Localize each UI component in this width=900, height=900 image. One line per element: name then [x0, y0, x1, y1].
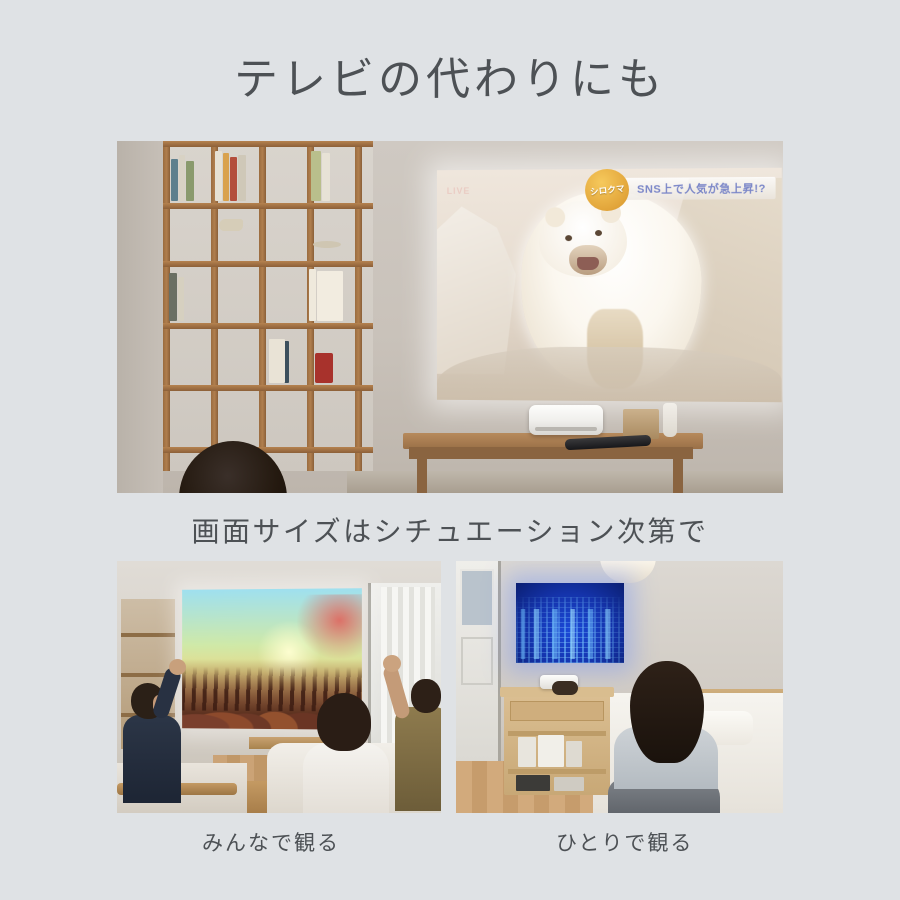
- viewer-woman-solo: [608, 661, 726, 813]
- solo-watching-photo: [456, 561, 783, 813]
- viewer-man-left: [123, 673, 187, 803]
- projector-device: [529, 405, 603, 435]
- viewer-woman: [303, 693, 389, 813]
- caption-group-watching: みんなで観る: [117, 829, 441, 859]
- floor: [347, 471, 783, 493]
- projected-screen-solo: [516, 583, 624, 663]
- living-room-projector-photo: LIVE SNS上で人気が急上昇!? シロクマ: [117, 141, 783, 493]
- tv-badge-label: シロクマ: [589, 182, 625, 198]
- bedroom-door: [456, 561, 501, 761]
- group-watching-photo: [117, 561, 441, 813]
- tv-corner-logo: LIVE: [447, 186, 471, 196]
- bookshelf: [163, 141, 373, 471]
- vase: [663, 403, 677, 437]
- wooden-cabinet: [504, 687, 610, 795]
- caption-solo-watching: ひとりで観る: [456, 829, 783, 859]
- section-subtitle: 画面サイズはシチュエーション次第で: [0, 513, 900, 551]
- page-title: テレビの代わりにも: [0, 52, 900, 108]
- viewer-man-right: [387, 661, 441, 811]
- tv-topic-badge: シロクマ: [585, 169, 629, 211]
- projected-screen: LIVE SNS上で人気が急上昇!? シロクマ: [437, 168, 782, 403]
- promo-page: テレビの代わりにも: [0, 0, 900, 900]
- wall-panel: [117, 141, 163, 493]
